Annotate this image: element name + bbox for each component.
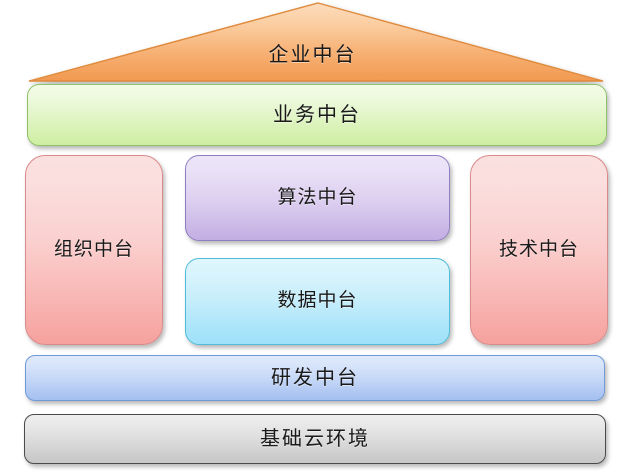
layer-label-rnd: 研发中台	[271, 366, 359, 390]
layer-rnd-middle-platform[interactable]: 研发中台	[25, 355, 605, 401]
layer-label-algorithm: 算法中台	[277, 187, 357, 210]
layer-label-technology: 技术中台	[499, 239, 579, 262]
layer-business-middle-platform[interactable]: 业务中台	[27, 84, 607, 146]
layer-technology-middle-platform[interactable]: 技术中台	[470, 155, 608, 345]
layer-label-cloud: 基础云环境	[260, 427, 370, 451]
layer-label-data: 数据中台	[277, 290, 357, 313]
diagram-canvas: 企业中台 业务中台 组织中台 算法中台 数据中台 技术中台 研发中台 基础云环境	[0, 0, 625, 473]
layer-algorithm-middle-platform[interactable]: 算法中台	[185, 155, 450, 241]
layer-data-middle-platform[interactable]: 数据中台	[185, 258, 450, 345]
layer-label-organization: 组织中台	[54, 239, 134, 262]
layer-organization-middle-platform[interactable]: 组织中台	[25, 155, 163, 345]
layer-basic-cloud-environment[interactable]: 基础云环境	[24, 414, 606, 464]
roof-triangle-shape[interactable]	[28, 2, 604, 82]
layer-label-business: 业务中台	[273, 103, 361, 127]
